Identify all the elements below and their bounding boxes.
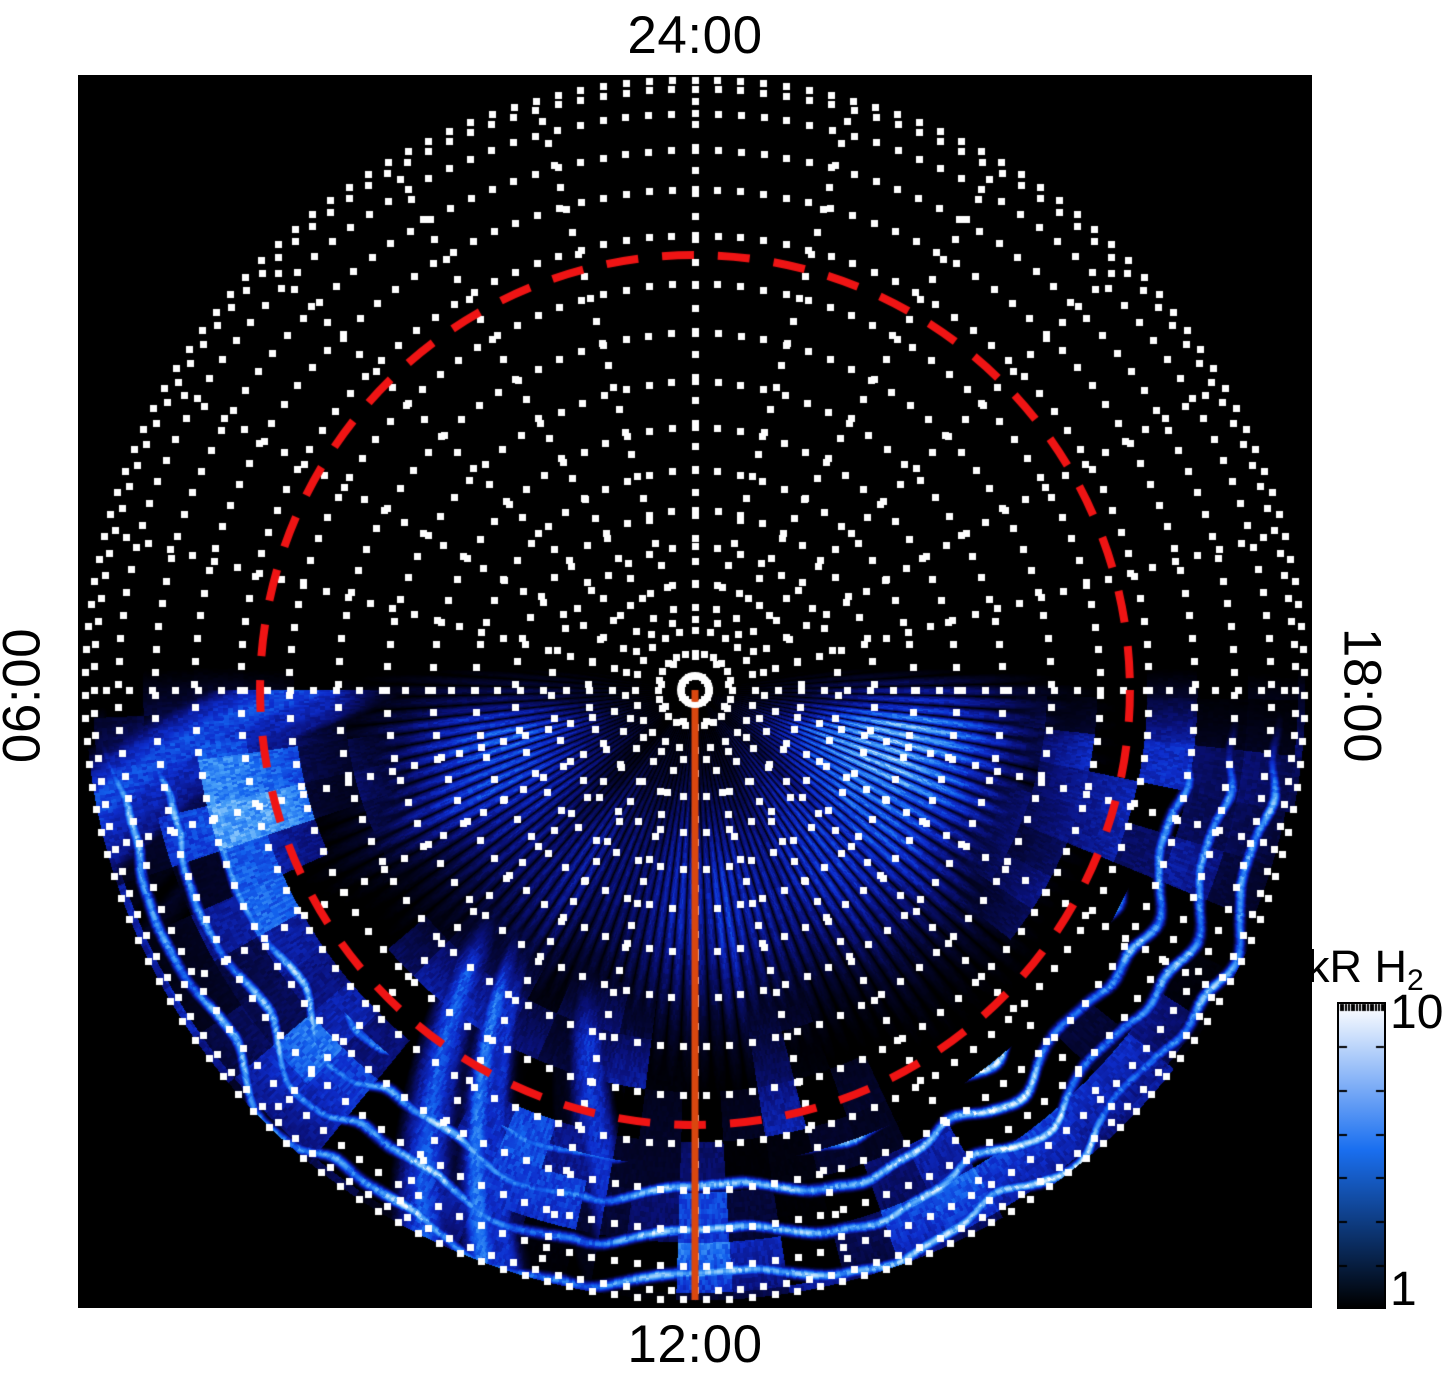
colorbar-min-label: 1 <box>1390 1262 1417 1317</box>
polar-plot-panel <box>78 75 1312 1308</box>
aurora-heatmap-canvas <box>78 75 1312 1308</box>
axis-label-dusk: 18:00 <box>1332 586 1393 806</box>
axis-label-noon: 12:00 <box>0 1314 1390 1375</box>
aurora-figure: 24:00 12:00 06:00 18:00 kR H2 10 1 <box>0 0 1447 1384</box>
colorbar-tick-marks <box>1337 1002 1386 1309</box>
colorbar-max-label: 10 <box>1390 985 1443 1040</box>
axis-label-midnight: 24:00 <box>0 5 1390 66</box>
colorbar <box>1337 1002 1386 1309</box>
axis-label-dawn: 06:00 <box>0 586 53 806</box>
